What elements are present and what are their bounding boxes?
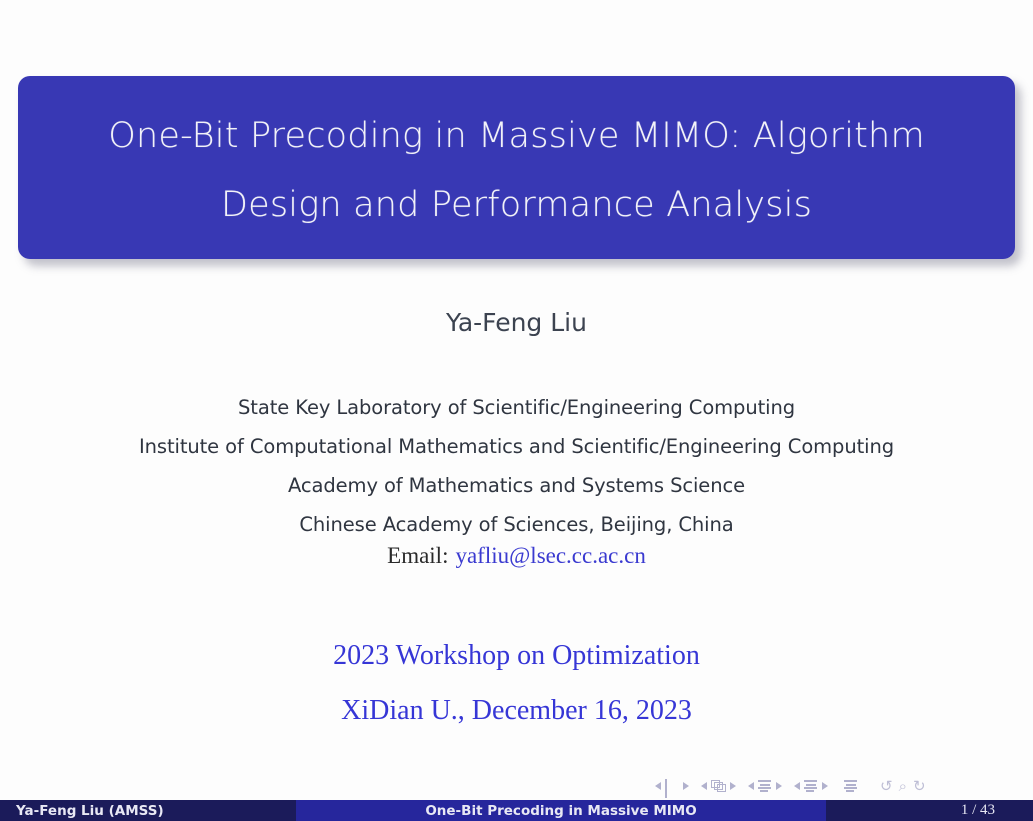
frame-navigation-group[interactable] bbox=[701, 780, 736, 792]
subsection-navigation-group[interactable] bbox=[748, 780, 782, 792]
email-link[interactable]: yafliu@lsec.cc.ac.cn bbox=[455, 543, 645, 568]
section-icon[interactable] bbox=[804, 780, 818, 792]
footer-page-number: 1 / 43 bbox=[826, 800, 1033, 821]
forward-icon[interactable]: ↻ bbox=[913, 779, 926, 794]
affiliation-line: State Key Laboratory of Scientific/Engin… bbox=[0, 388, 1033, 427]
next-subsection-arrow-icon[interactable] bbox=[776, 782, 782, 790]
slide-title-line-2: Design and Performance Analysis bbox=[221, 188, 812, 223]
author-name: Ya-Feng Liu bbox=[0, 308, 1033, 337]
venue-location-date: XiDian U., December 16, 2023 bbox=[0, 683, 1033, 738]
footer-short-title: One-Bit Precoding in Massive MIMO bbox=[296, 800, 826, 821]
footer-author: Ya-Feng Liu (AMSS) bbox=[0, 800, 296, 821]
affiliation-line: Chinese Academy of Sciences, Beijing, Ch… bbox=[0, 505, 1033, 544]
slide-title-block: One-Bit Precoding in Massive MIMO: Algor… bbox=[18, 76, 1015, 259]
search-icon[interactable]: ⌕ bbox=[899, 779, 907, 794]
prev-frame-arrow-icon[interactable] bbox=[701, 782, 707, 790]
affiliation-block: State Key Laboratory of Scientific/Engin… bbox=[0, 388, 1033, 544]
slide-footer: Ya-Feng Liu (AMSS) One-Bit Precoding in … bbox=[0, 800, 1033, 821]
prev-slide-arrow-icon[interactable] bbox=[655, 782, 661, 790]
section-navigation-group[interactable] bbox=[794, 780, 828, 792]
email-label: Email: bbox=[387, 543, 448, 568]
slide-navigation-group[interactable] bbox=[655, 780, 689, 792]
next-slide-arrow-icon[interactable] bbox=[683, 782, 689, 790]
presentation-slide: One-Bit Precoding in Massive MIMO: Algor… bbox=[0, 0, 1033, 821]
affiliation-line: Academy of Mathematics and Systems Scien… bbox=[0, 466, 1033, 505]
document-icon[interactable] bbox=[844, 780, 858, 792]
slide-title-line-1: One-Bit Precoding in Massive MIMO: Algor… bbox=[108, 119, 925, 154]
subsection-icon[interactable] bbox=[758, 780, 772, 792]
back-icon[interactable]: ↺ bbox=[880, 779, 893, 794]
frame-icon[interactable] bbox=[711, 780, 726, 792]
prev-subsection-arrow-icon[interactable] bbox=[748, 782, 754, 790]
beamer-navigation-symbols[interactable]: ↺ ⌕ ↻ bbox=[655, 776, 1025, 796]
slide-icon[interactable] bbox=[665, 780, 679, 792]
email-row: Email:yafliu@lsec.cc.ac.cn bbox=[0, 543, 1033, 569]
affiliation-line: Institute of Computational Mathematics a… bbox=[0, 427, 1033, 466]
venue-event: 2023 Workshop on Optimization bbox=[0, 628, 1033, 683]
next-section-arrow-icon[interactable] bbox=[822, 782, 828, 790]
prev-section-arrow-icon[interactable] bbox=[794, 782, 800, 790]
next-frame-arrow-icon[interactable] bbox=[730, 782, 736, 790]
venue-block: 2023 Workshop on Optimization XiDian U.,… bbox=[0, 628, 1033, 738]
